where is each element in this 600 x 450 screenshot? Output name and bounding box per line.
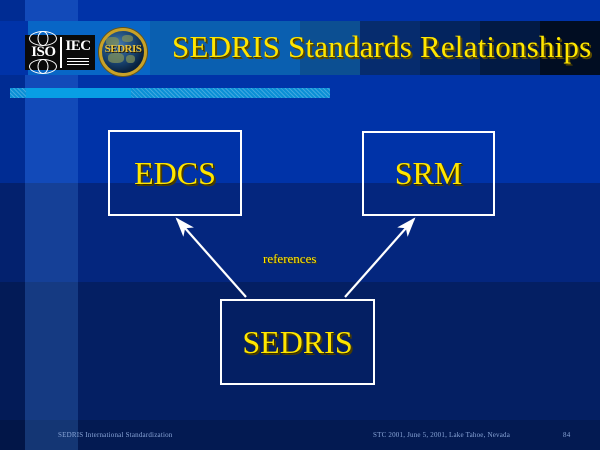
node-box-edcs[interactable]: EDCS (108, 130, 242, 216)
footer-right-text: STC 2001, June 5, 2001, Lake Tahoe, Neva… (373, 431, 510, 439)
arrow-sedris-to-srm (345, 219, 414, 297)
edge-label-references: references (263, 251, 316, 267)
node-box-sedris[interactable]: SEDRIS (220, 299, 375, 385)
footer-left-text: SEDRIS International Standardization (58, 431, 173, 439)
node-label-srm: SRM (395, 155, 463, 192)
node-box-srm[interactable]: SRM (362, 131, 495, 216)
node-label-edcs: EDCS (134, 155, 216, 192)
node-label-sedris: SEDRIS (242, 324, 352, 361)
footer-page-number: 84 (563, 431, 570, 439)
arrow-sedris-to-edcs (177, 219, 246, 297)
slide-canvas: ISO IEC SEDRIS SEDRIS Standards Relation… (0, 0, 600, 450)
